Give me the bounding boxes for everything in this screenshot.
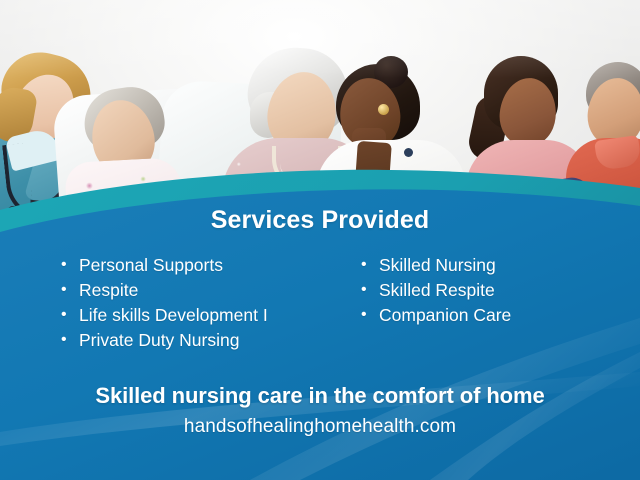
- services-list-right: Skilled Nursing Skilled Respite Companio…: [360, 253, 610, 328]
- home-health-services-poster: Services Provided Personal Supports Resp…: [0, 0, 640, 480]
- services-panel: Services Provided Personal Supports Resp…: [0, 196, 640, 480]
- website-url[interactable]: handsofhealinghomehealth.com: [0, 416, 640, 438]
- list-item: Private Duty Nursing: [60, 328, 360, 353]
- services-columns: Personal Supports Respite Life skills De…: [0, 253, 640, 353]
- services-column-right: Skilled Nursing Skilled Respite Companio…: [360, 253, 610, 353]
- list-item: Companion Care: [360, 303, 610, 328]
- list-item: Skilled Respite: [360, 278, 610, 303]
- list-item: Life skills Development I: [60, 303, 360, 328]
- page-title: Services Provided: [0, 206, 640, 235]
- services-column-left: Personal Supports Respite Life skills De…: [60, 253, 360, 353]
- tagline: Skilled nursing care in the comfort of h…: [0, 383, 640, 409]
- list-item: Skilled Nursing: [360, 253, 610, 278]
- services-list-left: Personal Supports Respite Life skills De…: [60, 253, 360, 353]
- list-item: Personal Supports: [60, 253, 360, 278]
- list-item: Respite: [60, 278, 360, 303]
